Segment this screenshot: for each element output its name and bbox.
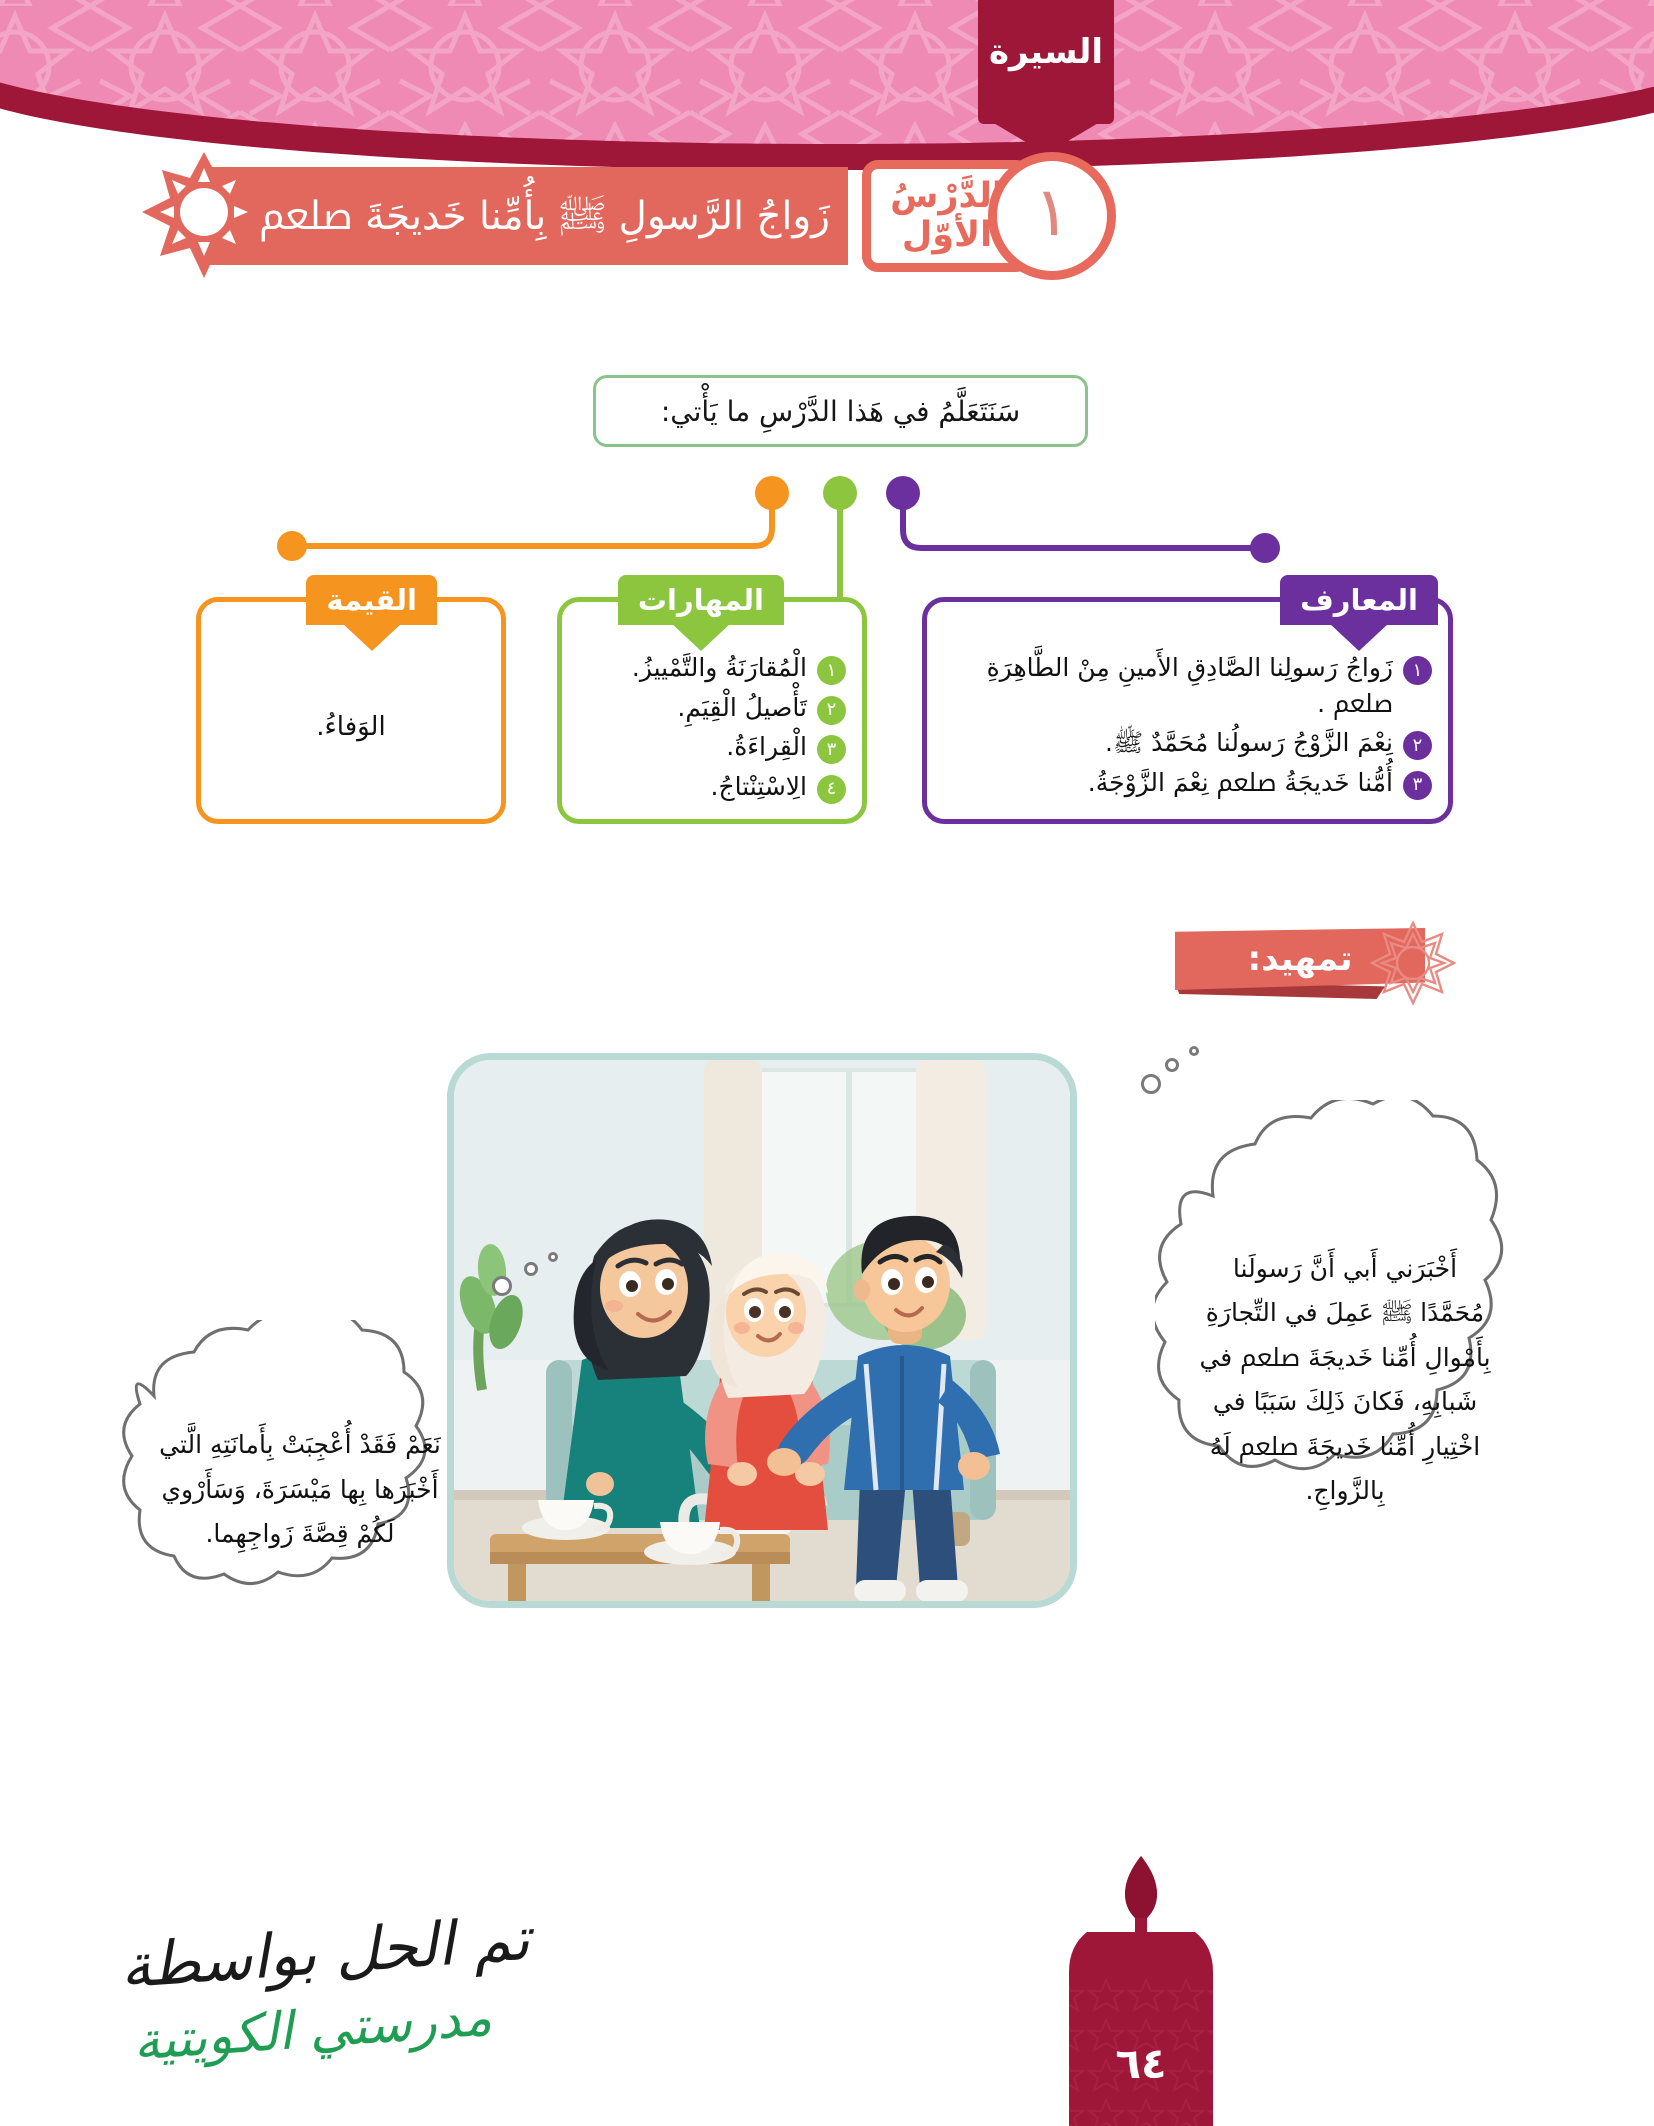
list-item: ٢ نِعْمَ الزَّوْجُ رَسولُنا مُحَمَّدٌ ﷺ. [943, 725, 1432, 761]
textbook-page: السيرة زَواجُ الرَّسولِ ﷺ بِأُمِّنا خَدي… [0, 0, 1654, 2126]
speech-bubble-right: أَخْبَرَني أَبي أَنَّ رَسولَنا مُحَمَّدً… [1155, 1100, 1535, 1660]
list-item-label: الْمُقارَنَةُ والتَّمْييزُ. [578, 650, 807, 686]
watermark-line1: تم الحل بواسطة [118, 1904, 532, 2002]
objectives-knowledge-tab: المعارف [1280, 575, 1438, 625]
speech-bubble-dot [492, 1276, 512, 1296]
lesson-title-banner: زَواجُ الرَّسولِ ﷺ بِأُمِّنا خَديجَةَ ﷵ [205, 167, 848, 265]
list-item-label: الِاسْتِنْتاجُ. [578, 769, 807, 805]
list-item-label: تَأْصيلُ الْقِيَمِ. [578, 690, 807, 726]
list-item-number: ٤ [817, 775, 846, 804]
list-item-number: ٣ [1403, 771, 1432, 800]
objectives-value-text: الوَفاءُ. [201, 712, 501, 742]
watermark: تم الحل بواسطة مدرستي الكويتية [16, 1908, 536, 2098]
speech-bubble-dot [1141, 1074, 1161, 1094]
subject-tab-label: السيرة [978, 32, 1114, 72]
speech-bubble-dot [524, 1262, 538, 1276]
list-item-label: أُمُّنا خَديجَةُ ﷵ نِعْمَ الزَّوْجَةُ. [943, 765, 1393, 801]
list-item: ٢ تَأْصيلُ الْقِيَمِ. [578, 690, 846, 726]
speech-bubble-dot [1189, 1046, 1199, 1056]
list-item-number: ٢ [817, 696, 846, 725]
list-item-label: نِعْمَ الزَّوْجُ رَسولُنا مُحَمَّدٌ ﷺ. [943, 725, 1393, 761]
speech-bubble-dot [1165, 1058, 1179, 1072]
objectives-skills-tab-label: المهارات [638, 583, 764, 617]
lesson-number-text: ١ [1034, 179, 1071, 247]
lesson-illustration [447, 1053, 1077, 1608]
list-item: ١ الْمُقارَنَةُ والتَّمْييزُ. [578, 650, 846, 686]
objectives-value-tab: القيمة [306, 575, 437, 625]
list-item-number: ٣ [817, 735, 846, 764]
subject-tab[interactable]: السيرة [978, 0, 1114, 124]
list-item-number: ١ [1403, 656, 1432, 685]
list-item-label: الْقِراءَةُ. [578, 729, 807, 765]
objectives-knowledge-list: ١ زَواجُ رَسولِنا الصَّادِقِ الأَمينِ مِ… [943, 650, 1432, 804]
objectives-knowledge-box: المعارف ١ زَواجُ رَسولِنا الصَّادِقِ الأ… [922, 597, 1453, 824]
objectives-value-tab-label: القيمة [326, 583, 417, 617]
lesson-number-circle: ١ [988, 152, 1116, 280]
list-item-label: زَواجُ رَسولِنا الصَّادِقِ الأَمينِ مِنْ… [943, 650, 1393, 721]
objectives-skills-box: المهارات ١ الْمُقارَنَةُ والتَّمْييزُ. ٢… [557, 597, 867, 824]
illustration-scene-icon [454, 1060, 1072, 1603]
objectives-value-box: القيمة الوَفاءُ. [196, 597, 506, 824]
speech-bubble-left: نَعَمْ فَقَدْ أُعْجِبَتْ بِأَمانَتِهِ ال… [100, 1320, 500, 1660]
list-item: ٣ أُمُّنا خَديجَةُ ﷵ نِعْمَ الزَّوْجَةُ. [943, 765, 1432, 801]
objectives-skills-tab: المهارات [618, 575, 784, 625]
lesson-badge-line2: الأوّل [902, 218, 992, 253]
watermark-line2: مدرستي الكويتية [131, 1988, 493, 2073]
lesson-title-text: زَواجُ الرَّسولِ ﷺ بِأُمِّنا خَديجَةَ ﷵ [205, 179, 830, 253]
star-ornament-icon [138, 150, 270, 282]
list-item-number: ٢ [1403, 731, 1432, 760]
list-item: ١ زَواجُ رَسولِنا الصَّادِقِ الأَمينِ مِ… [943, 650, 1432, 721]
speech-bubble-left-text: نَعَمْ فَقَدْ أُعْجِبَتْ بِأَمانَتِهِ ال… [100, 1320, 500, 1660]
page-number: ٦٤ [1046, 2039, 1236, 2088]
speech-bubble-dot [548, 1252, 558, 1262]
objectives-knowledge-tab-label: المعارف [1300, 583, 1418, 617]
list-item: ٣ الْقِراءَةُ. [578, 729, 846, 765]
list-item: ٤ الِاسْتِنْتاجُ. [578, 769, 846, 805]
list-item-number: ١ [817, 656, 846, 685]
tamheed-star-ornament-icon [1370, 920, 1456, 1006]
speech-bubble-right-text: أَخْبَرَني أَبي أَنَّ رَسولَنا مُحَمَّدً… [1155, 1100, 1535, 1660]
objectives-skills-list: ١ الْمُقارَنَةُ والتَّمْييزُ. ٢ تَأْصيلُ… [578, 650, 846, 808]
lesson-badge-line1: الدَّرْسُ [890, 179, 1004, 214]
